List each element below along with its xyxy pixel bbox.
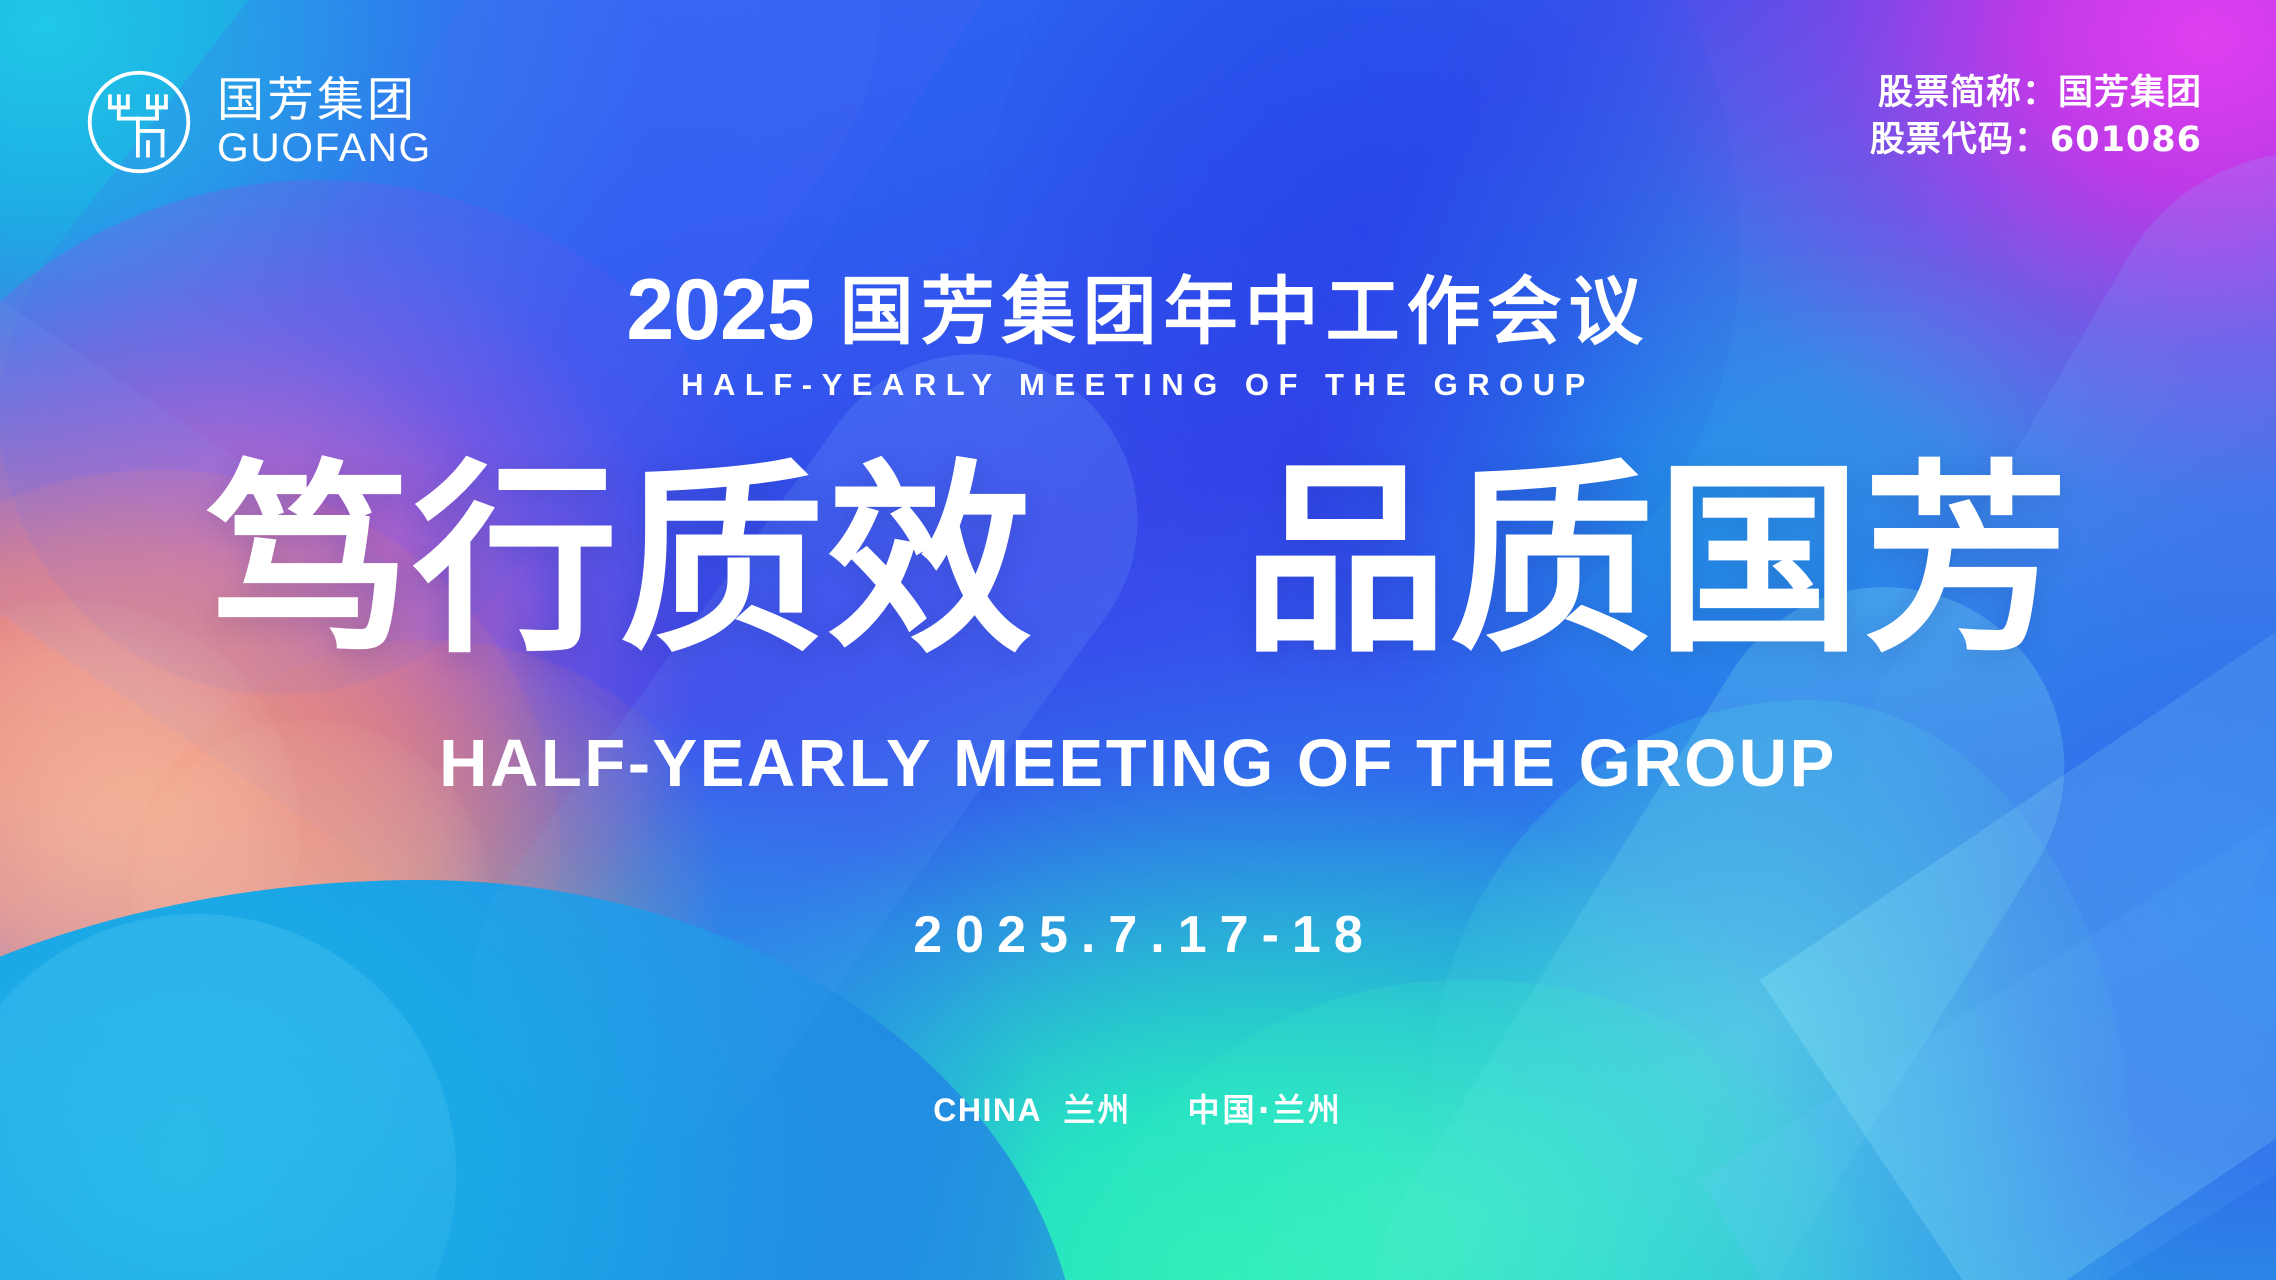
event-location: CHINA 兰州 中国·兰州: [0, 1085, 2276, 1131]
hero-slogan-part2: 品质国芳: [1242, 443, 2070, 681]
meeting-title-subtitle-en: HALF-YEARLY MEETING OF THE GROUP: [0, 367, 2276, 403]
stock-info: 股票简称：国芳集团 股票代码：601086: [1870, 70, 2202, 164]
deer-circle-logo-icon: [83, 66, 195, 178]
hero-slogan-part1: 笃行质效: [206, 443, 1034, 681]
event-location-city-cn: 兰州: [1063, 1091, 1131, 1129]
hero-slogan: 笃行质效 品质国芳: [0, 460, 2276, 665]
event-location-country-en: CHINA: [933, 1092, 1042, 1128]
event-date: 2025.7.17-18: [0, 905, 2276, 965]
meeting-title-main: 2025 国芳集团年中工作会议: [626, 252, 1649, 359]
meeting-title-year: 2025: [626, 261, 813, 360]
brand-name-cn: 国芳集团: [217, 77, 428, 124]
stock-abbreviation: 股票简称：国芳集团: [1870, 70, 2202, 117]
meeting-title-block: 2025 国芳集团年中工作会议 HALF-YEARLY MEETING OF T…: [0, 252, 2276, 403]
brand-logo-lockup: 国芳集团 GUOFANG: [83, 66, 428, 178]
stock-code: 股票代码：601086: [1870, 117, 2202, 164]
meeting-title-cn: 国芳集团年中工作会议: [840, 252, 1650, 359]
hero-slogan-english: HALF-YEARLY MEETING OF THE GROUP: [0, 725, 2276, 802]
brand-wordmark: 国芳集团 GUOFANG: [217, 77, 428, 168]
conference-banner: 国芳集团 GUOFANG 股票简称：国芳集团 股票代码：601086 2025 …: [0, 0, 2276, 1280]
brand-name-en: GUOFANG: [217, 128, 432, 168]
event-location-full-cn: 中国·兰州: [1188, 1091, 1343, 1129]
